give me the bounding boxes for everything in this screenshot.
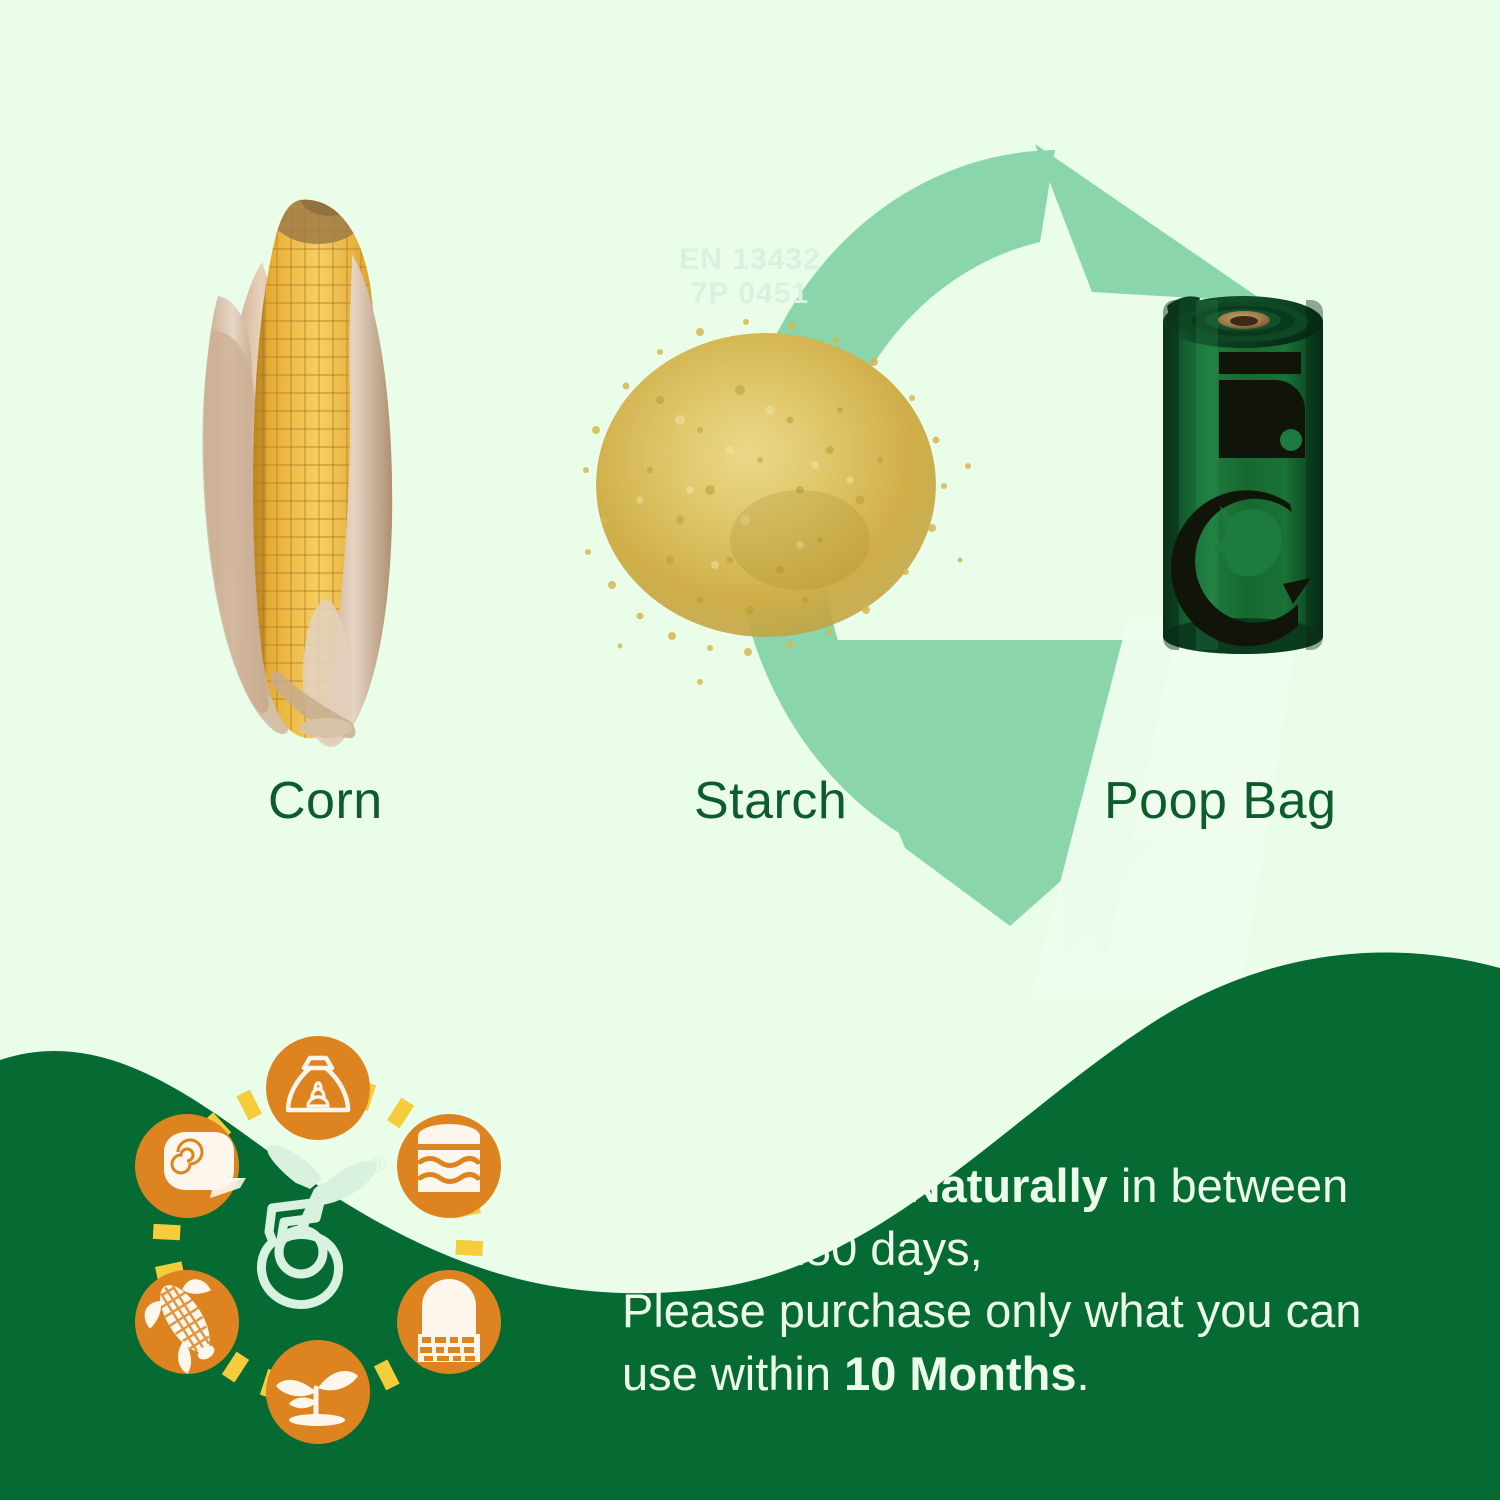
copy-line-4-pre: use within: [622, 1347, 844, 1400]
copy-line-1-rest: in between: [1108, 1159, 1348, 1212]
green-poop-bag-roll-photo: [1163, 296, 1323, 654]
copy-line-3: Please purchase only what you can: [622, 1280, 1422, 1343]
copy-line-4-post: .: [1076, 1347, 1089, 1400]
stage-label-poop-bag: Poop Bag: [1104, 771, 1336, 831]
svg-text:®: ®: [370, 1152, 386, 1177]
compost-soil-icon: [397, 1270, 501, 1374]
waste-bag-icon: [266, 1036, 370, 1140]
sprout-icon: [266, 1340, 370, 1444]
certification-license: 7P 0451: [0, 277, 1500, 311]
stage-label-corn: Corn: [268, 771, 383, 831]
copy-line-4-bold: 10 Months: [844, 1347, 1076, 1400]
infographic-canvas: ® Corn Starch Poop Bag EN 13432 7P 0451 …: [0, 0, 1500, 1500]
certification-text: EN 13432 7P 0451: [0, 243, 1500, 310]
water-layers-icon: [397, 1114, 501, 1218]
copy-line-1: Break Down Naturally in between: [622, 1155, 1422, 1218]
marketing-copy: Break Down Naturally in between 90 and 1…: [622, 1155, 1422, 1405]
certification-standard: EN 13432: [0, 243, 1500, 277]
copy-line-4: use within 10 Months.: [622, 1343, 1422, 1406]
stage-label-starch: Starch: [694, 771, 847, 831]
copy-line-2: 90 and 180 days,: [622, 1218, 1422, 1281]
copy-line-1-bold: Break Down Naturally: [622, 1159, 1108, 1212]
